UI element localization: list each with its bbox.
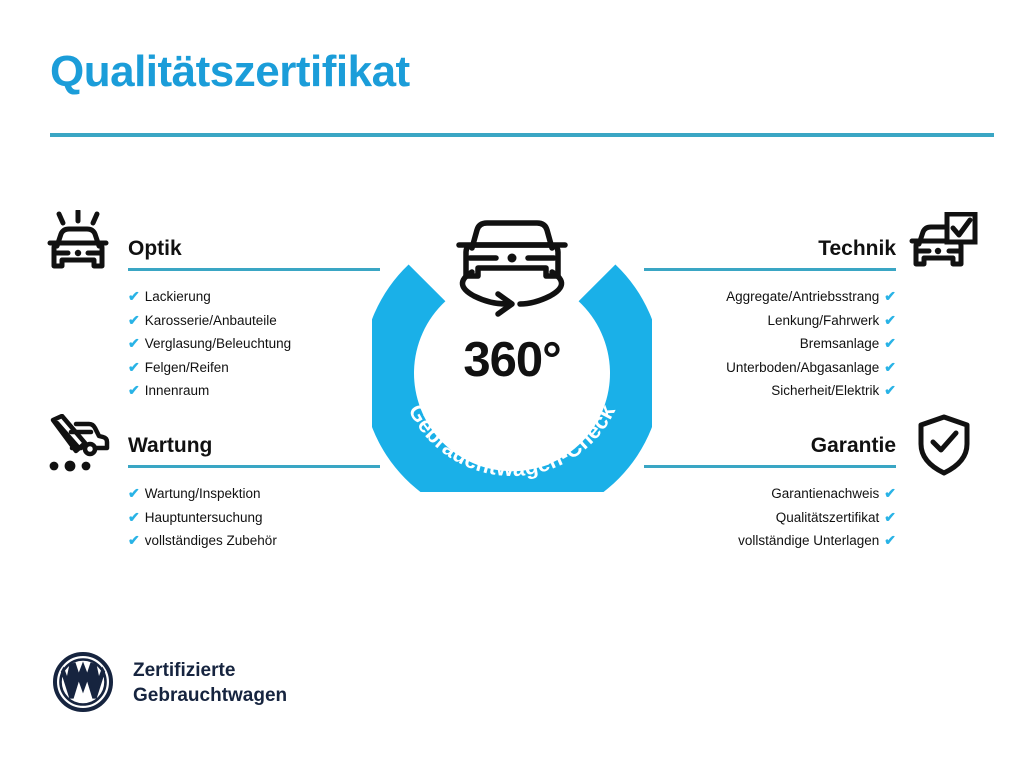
badge-degrees: 360° <box>372 332 652 388</box>
list-item-label: vollständige Unterlagen <box>738 533 879 548</box>
list-item-label: Felgen/Reifen <box>145 360 229 375</box>
check-icon: ✔ <box>128 359 140 375</box>
section-garantie-divider <box>644 465 896 468</box>
check-icon: ✔ <box>884 509 896 525</box>
shield-check-icon <box>916 414 972 481</box>
list-item: Sicherheit/Elektrik✔ <box>644 379 896 403</box>
list-item: ✔Hauptuntersuchung <box>128 506 380 530</box>
check-icon: ✔ <box>128 288 140 304</box>
section-technik-list: Aggregate/Antriebsstrang✔ Lenkung/Fahrwe… <box>644 285 896 403</box>
check-icon: ✔ <box>884 532 896 548</box>
check-icon: ✔ <box>128 382 140 398</box>
list-item-label: Innenraum <box>145 383 210 398</box>
check-icon: ✔ <box>128 335 140 351</box>
list-item-label: Lenkung/Fahrwerk <box>767 313 879 328</box>
check-icon: ✔ <box>884 485 896 501</box>
section-optik-list: ✔Lackierung ✔Karosserie/Anbauteile ✔Verg… <box>128 285 380 403</box>
section-wartung-divider <box>128 465 380 468</box>
list-item-label: Bremsanlage <box>800 336 880 351</box>
list-item-label: Lackierung <box>145 289 211 304</box>
section-garantie-list: Garantienachweis✔ Qualitätszertifikat✔ v… <box>644 482 896 553</box>
list-item: vollständige Unterlagen✔ <box>644 529 896 553</box>
list-item: Qualitätszertifikat✔ <box>644 506 896 530</box>
section-garantie: Garantie Garantienachweis✔ Qualitätszert… <box>644 435 896 553</box>
section-garantie-heading: Garantie <box>644 435 896 456</box>
list-item-label: Aggregate/Antriebsstrang <box>726 289 879 304</box>
list-item-label: vollständiges Zubehör <box>145 533 277 548</box>
list-item: Garantienachweis✔ <box>644 482 896 506</box>
list-item-label: Wartung/Inspektion <box>145 486 261 501</box>
section-technik-divider <box>644 268 896 271</box>
list-item: ✔Innenraum <box>128 379 380 403</box>
car-shine-icon <box>45 210 111 285</box>
vw-footer-text: Zertifizierte Gebrauchtwagen <box>133 658 287 708</box>
section-optik-heading: Optik <box>128 238 380 259</box>
section-technik-heading: Technik <box>644 238 896 259</box>
list-item-label: Sicherheit/Elektrik <box>771 383 879 398</box>
check-icon: ✔ <box>884 288 896 304</box>
page-title: Qualitätszertifikat <box>50 47 410 97</box>
check-icon: ✔ <box>884 359 896 375</box>
list-item: ✔vollständiges Zubehör <box>128 529 380 553</box>
check-icon: ✔ <box>128 532 140 548</box>
volkswagen-logo <box>52 651 114 718</box>
list-item-label: Qualitätszertifikat <box>776 510 880 525</box>
list-item-label: Verglasung/Beleuchtung <box>145 336 291 351</box>
360-check-badge: Gebrauchtwagen-Check 360° <box>372 202 652 492</box>
section-technik: Technik Aggregate/Antriebsstrang✔ Lenkun… <box>644 238 896 403</box>
list-item: Unterboden/Abgasanlage✔ <box>644 356 896 380</box>
check-icon: ✔ <box>884 312 896 328</box>
list-item-label: Hauptuntersuchung <box>145 510 263 525</box>
list-item: ✔Karosserie/Anbauteile <box>128 309 380 333</box>
list-item: Lenkung/Fahrwerk✔ <box>644 309 896 333</box>
check-icon: ✔ <box>128 509 140 525</box>
section-optik: Optik ✔Lackierung ✔Karosserie/Anbauteile… <box>128 238 380 403</box>
car-pencil-service-icon <box>45 414 111 481</box>
car-checkbox-icon <box>908 212 978 281</box>
vw-footer-line1: Zertifizierte <box>133 658 287 683</box>
list-item-label: Karosserie/Anbauteile <box>145 313 277 328</box>
vw-footer-line2: Gebrauchtwagen <box>133 683 287 708</box>
section-wartung-heading: Wartung <box>128 435 380 456</box>
certificate-page: Qualitätszertifikat <box>0 0 1024 768</box>
check-icon: ✔ <box>128 485 140 501</box>
list-item-label: Unterboden/Abgasanlage <box>726 360 879 375</box>
list-item: Aggregate/Antriebsstrang✔ <box>644 285 896 309</box>
list-item: ✔Felgen/Reifen <box>128 356 380 380</box>
list-item: ✔Wartung/Inspektion <box>128 482 380 506</box>
check-icon: ✔ <box>128 312 140 328</box>
check-icon: ✔ <box>884 335 896 351</box>
list-item-label: Garantienachweis <box>771 486 879 501</box>
list-item: ✔Verglasung/Beleuchtung <box>128 332 380 356</box>
section-wartung: Wartung ✔Wartung/Inspektion ✔Hauptunters… <box>128 435 380 553</box>
title-divider <box>50 133 994 137</box>
list-item: ✔Lackierung <box>128 285 380 309</box>
section-wartung-list: ✔Wartung/Inspektion ✔Hauptuntersuchung ✔… <box>128 482 380 553</box>
section-optik-divider <box>128 268 380 271</box>
list-item: Bremsanlage✔ <box>644 332 896 356</box>
check-icon: ✔ <box>884 382 896 398</box>
